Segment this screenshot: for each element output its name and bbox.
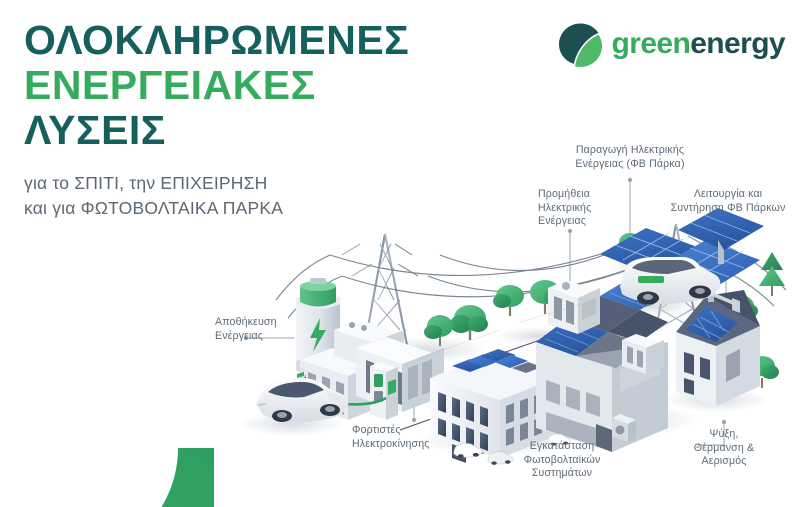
callout-line: Προμήθεια: [538, 188, 591, 202]
callout-operation-maintenance-pv-parks: Λειτουργία και Συντήρηση ΦΒ Πάρκων: [650, 188, 806, 215]
callout-line: Φορτιστές: [352, 424, 430, 438]
callout-line: Ηλεκτρικής: [538, 202, 591, 216]
callout-line: Αποθήκευση: [215, 316, 277, 330]
callout-line: Φωτοβολταϊκών: [486, 454, 638, 468]
callout-pv-installation: Εγκατάσταση Φωτοβολταϊκών Συστημάτων: [486, 440, 638, 481]
distribution-cabinet: [548, 280, 600, 334]
callout-line: Συστημάτων: [486, 467, 638, 481]
callout-line: Ενέργειας: [215, 330, 277, 344]
callout-energy-storage: Αποθήκευση Ενέργειας: [215, 316, 277, 343]
callout-electricity-supply: Προμήθεια Ηλεκτρικής Ενέργειας: [538, 188, 591, 229]
callout-line: Παραγωγή Ηλεκτρικής: [552, 144, 708, 158]
callout-line: Ενέργειας (ΦΒ Πάρκα): [552, 158, 708, 172]
callout-line: Ψύξη,: [664, 428, 784, 442]
callout-ev-chargers: Φορτιστές Ηλεκτροκίνησης: [352, 424, 430, 451]
callout-line: Συντήρηση ΦΒ Πάρκων: [650, 202, 806, 216]
callout-line: Λειτουργία και: [650, 188, 806, 202]
callout-line: Ενέργειας: [538, 215, 591, 229]
callout-line: Ηλεκτροκίνησης: [352, 438, 430, 452]
callout-line: Θέρμανση &: [664, 442, 784, 456]
callout-line: Αερισμός: [664, 455, 784, 469]
poster-canvas: ΟΛΟΚΛΗΡΩΜΕΝΕΣ ΕΝΕΡΓΕΙΑΚΕΣ ΛΥΣΕΙΣ για το …: [0, 0, 809, 507]
callout-line: Εγκατάσταση: [486, 440, 638, 454]
callout-power-generation-pv-parks: Παραγωγή Ηλεκτρικής Ενέργειας (ΦΒ Πάρκα): [552, 144, 708, 171]
transformer-cabinet: [622, 334, 664, 374]
callout-cooling-heating-ventilation: Ψύξη, Θέρμανση & Αερισμός: [664, 428, 784, 469]
